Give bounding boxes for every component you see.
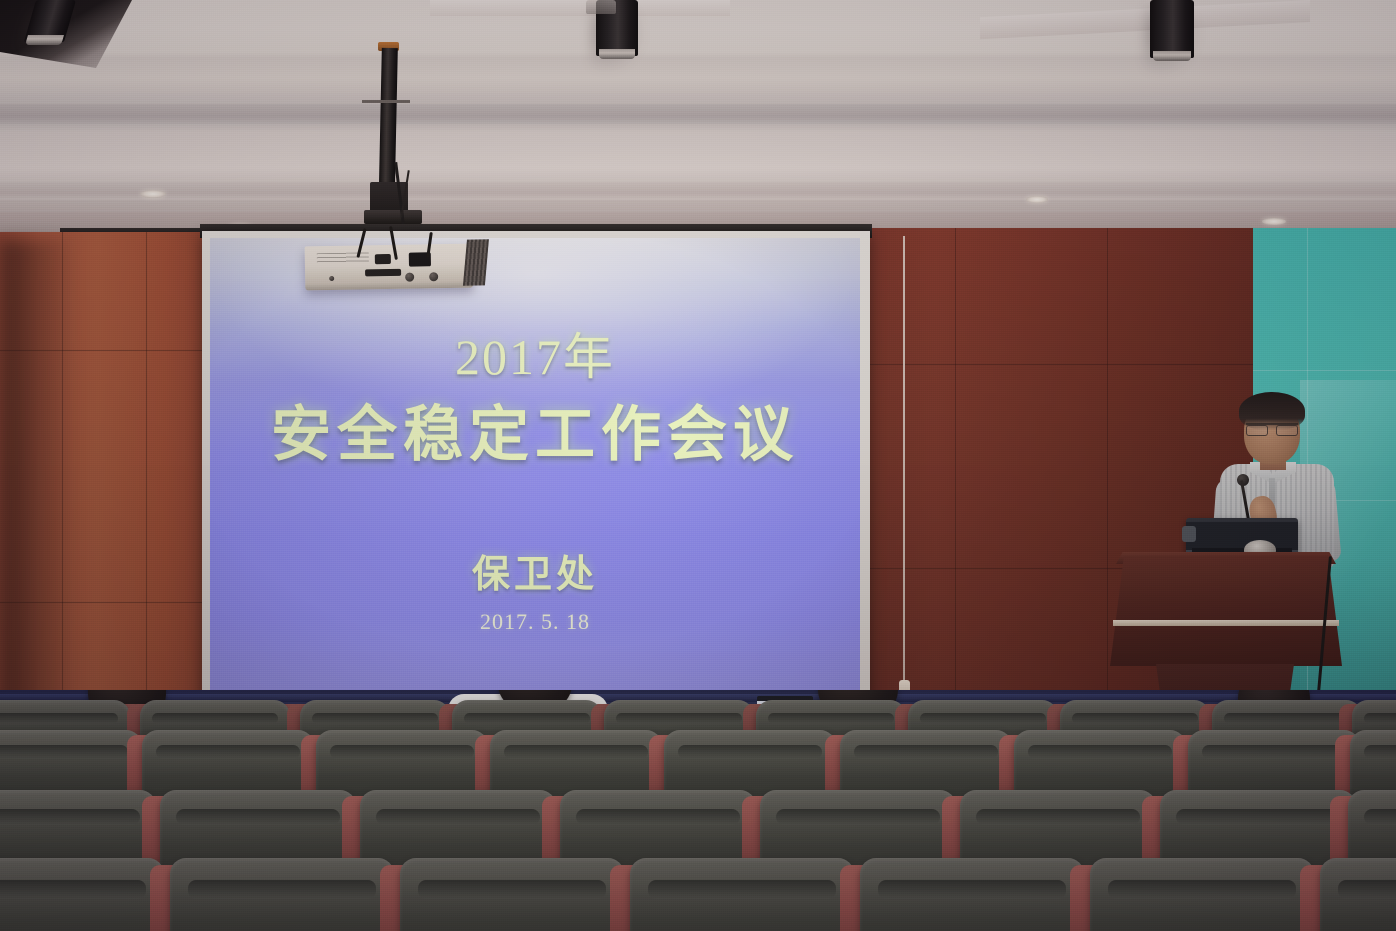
seat-back [1090,858,1314,931]
seat-back [170,858,394,931]
conference-hall-photo: 2017年 安全稳定工作会议 保卫处 2017. 5. 18 [0,0,1396,931]
podium-accent-stripe [1113,620,1339,626]
downlight-1-icon [140,190,166,198]
audience-seating [0,690,1396,931]
ceiling-soffit-center [430,0,730,16]
spotlight-right-icon [1150,0,1194,58]
seat [1090,858,1314,931]
glasses-icon [1246,423,1298,432]
spotlight-center-mount [586,0,616,14]
ceiling-band-1 [0,104,1396,124]
seat [0,858,164,931]
ceiling-band-2 [0,182,1396,200]
seat [1320,858,1396,931]
ceiling-projector [305,244,474,291]
hanging-power-cord [903,236,905,696]
seat-back [1320,858,1396,931]
speaker-podium [1110,556,1342,666]
seat-back [0,858,164,931]
seat [170,858,394,931]
seat [400,858,624,931]
spotlight-left-icon [24,0,76,42]
projection-screen: 2017年 安全稳定工作会议 保卫处 2017. 5. 18 [210,238,860,690]
downlight-3-icon [1262,218,1286,225]
left-wall-shadow [0,240,72,710]
seat [860,858,1084,931]
seat-back [630,858,854,931]
seat [630,858,854,931]
downlight-4-icon [1026,196,1048,203]
seat-back [860,858,1084,931]
seat-back [400,858,624,931]
